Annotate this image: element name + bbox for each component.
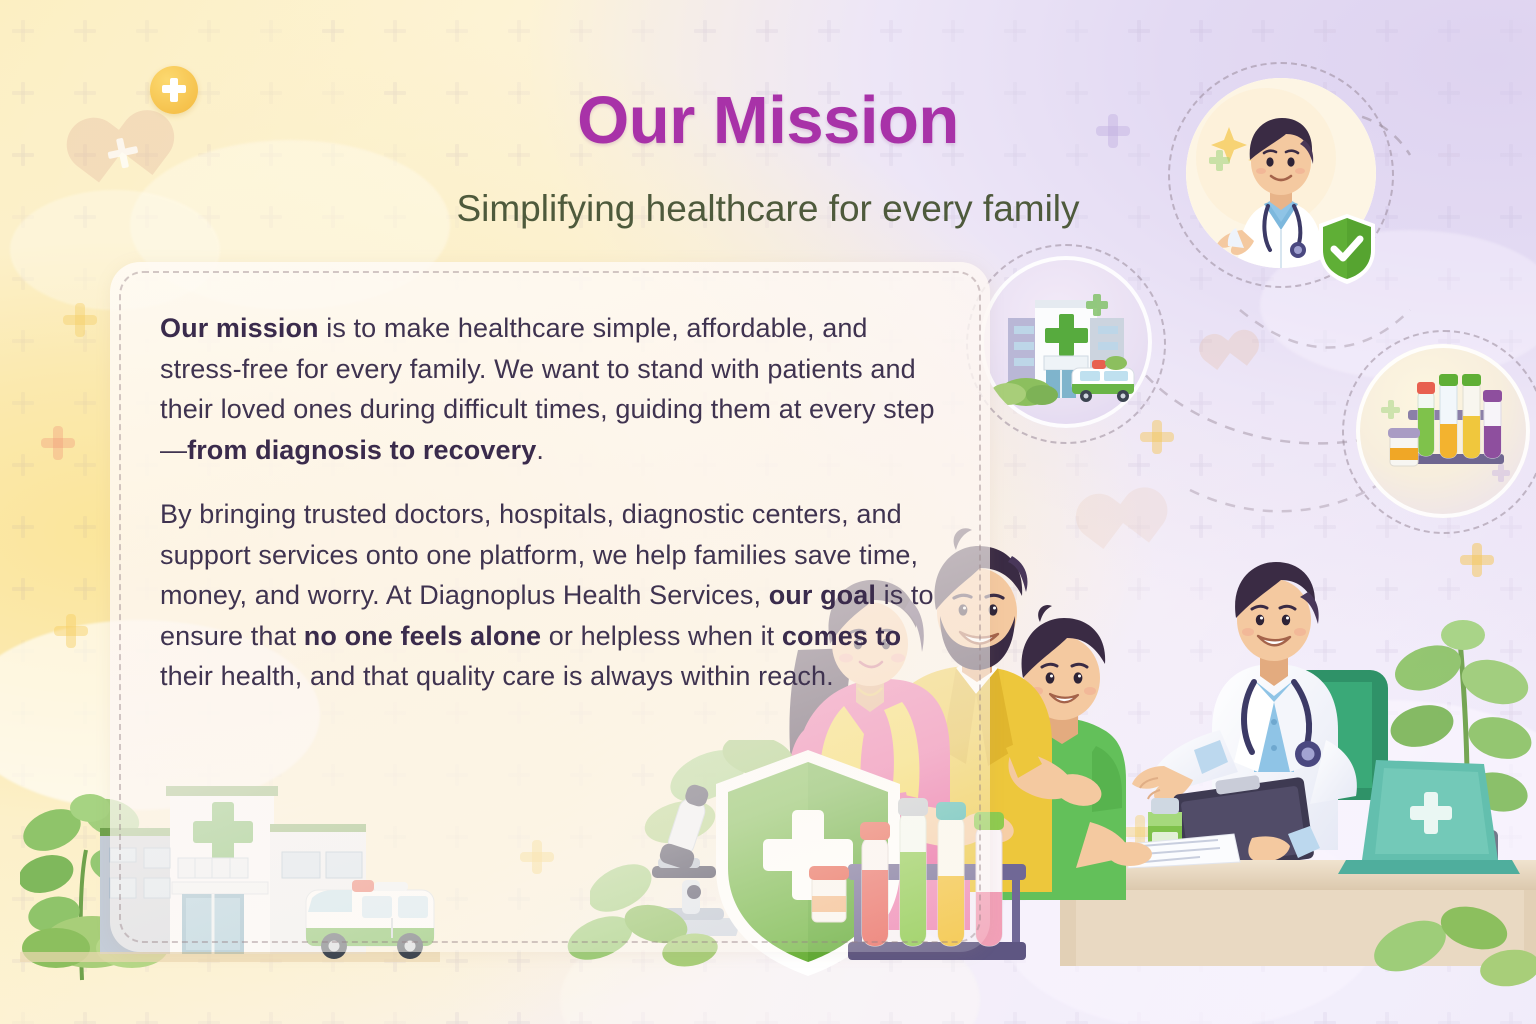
mission-p2-text-c: or helpless when it bbox=[541, 621, 782, 651]
mission-paragraph-2: By bringing trusted doctors, hospitals, … bbox=[160, 494, 950, 697]
leaf-decor-illustration bbox=[1360, 880, 1536, 1010]
mission-lead-bold: Our mission bbox=[160, 313, 319, 343]
mission-text-card: Our mission is to make healthcare simple… bbox=[110, 262, 990, 952]
mission-p2-bold-3: comes to bbox=[782, 621, 901, 651]
mission-paragraph-1: Our mission is to make healthcare simple… bbox=[160, 308, 950, 470]
mission-p2-bold-2: no one feels alone bbox=[304, 621, 541, 651]
plus-decor-icon bbox=[70, 310, 90, 330]
mission-graphic: Our Mission Simplifying healthcare for e… bbox=[0, 0, 1536, 1024]
hospital-badge bbox=[980, 256, 1152, 428]
mission-text-body: Our mission is to make healthcare simple… bbox=[160, 308, 950, 721]
page-subtitle: Simplifying healthcare for every family bbox=[0, 188, 1536, 230]
plus-decor-icon bbox=[45, 430, 71, 456]
mission-p1-text-b: . bbox=[536, 435, 544, 465]
plus-decor-icon bbox=[60, 620, 82, 642]
page-title: Our Mission bbox=[0, 82, 1536, 159]
mission-p1-emphasis: from diagnosis to recovery bbox=[187, 435, 536, 465]
mission-p2-text-d: their health, and that quality care is a… bbox=[160, 661, 834, 691]
mission-p2-bold-1: our goal bbox=[769, 580, 876, 610]
